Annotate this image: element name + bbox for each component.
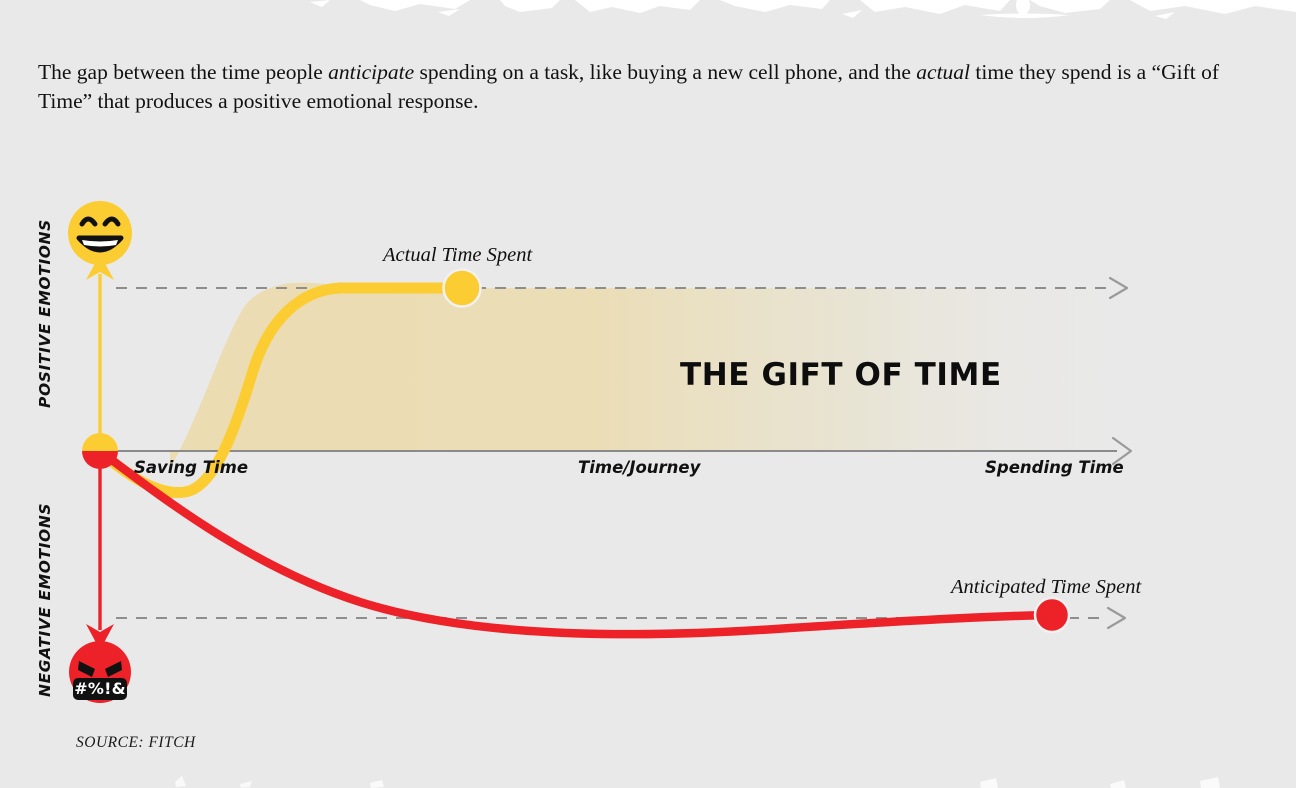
grinning-face-emoji [68,201,132,265]
gift-of-time-chart: Actual Time Spent Anticipated Time Spent… [0,178,1296,778]
anticipated-time-curve [100,451,1052,634]
anticipated-time-endpoint-dot [1035,598,1069,632]
x-label-saving-time: Saving Time [134,458,248,477]
angry-face-emoji: #%!& [69,641,131,703]
angry-face-censor-text: #%!& [74,679,126,698]
chart: Actual Time Spent Anticipated Time Spent… [0,178,1296,778]
actual-time-endpoint-dot [444,270,481,307]
gift-of-time-region-label: THE GIFT OF TIME [680,357,1002,393]
x-label-spending-time: Spending Time [985,458,1124,477]
y-axis-label-negative: NEGATIVE EMOTIONS [36,503,54,697]
y-axis-label-positive: POSITIVE EMOTIONS [36,219,54,408]
actual-time-label: Actual Time Spent [381,244,533,266]
header: The gap between the time people anticipa… [38,40,1258,117]
anticipated-level-arrowhead [1108,608,1125,628]
anticipated-time-label: Anticipated Time Spent [949,576,1142,598]
top-decoration [0,0,1296,20]
infographic-page: The gap between the time people anticipa… [0,0,1296,788]
page-subtitle: The gap between the time people anticipa… [38,58,1243,117]
x-label-time-journey: Time/Journey [578,458,702,477]
source-note: SOURCE: FITCH [76,734,196,752]
origin-split-dot [82,433,118,469]
